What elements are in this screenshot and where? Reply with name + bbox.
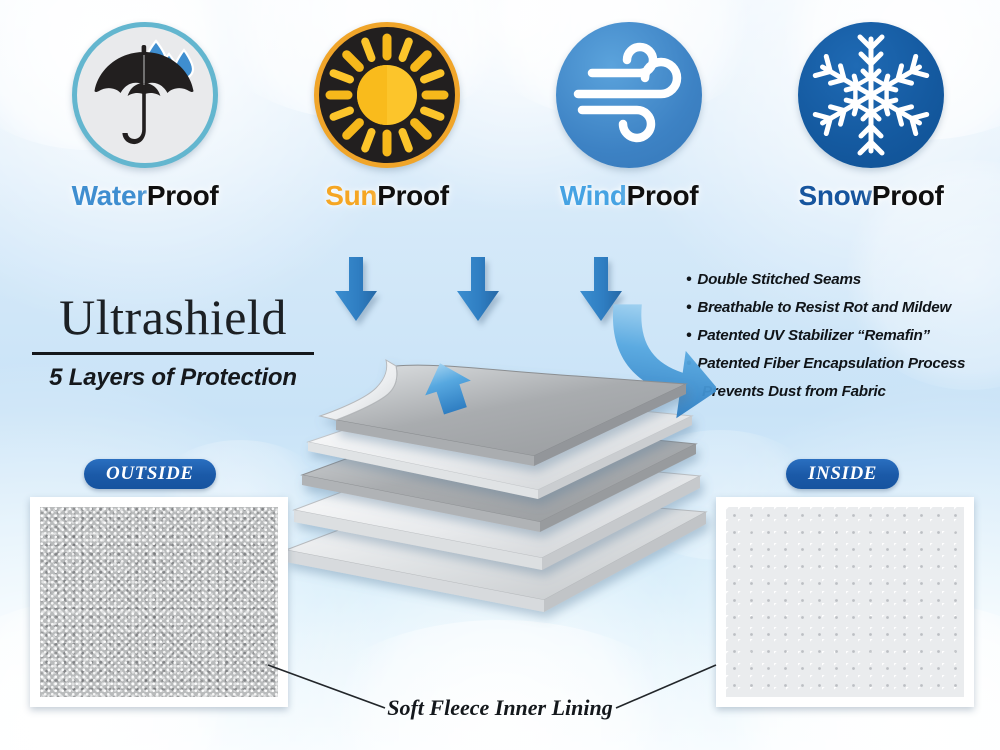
brand-divider (32, 352, 314, 355)
bullet-text: Prevents Dust from Fabric (702, 384, 886, 399)
badge-outside: OUTSIDE (84, 459, 216, 489)
badge-inside: INSIDE (786, 459, 899, 489)
feature-waterproof[interactable]: WaterProof (20, 0, 270, 212)
feature-sunproof[interactable]: SunProof (262, 0, 512, 212)
bullet-item: • Patented Fiber Encapsulation Process (686, 356, 996, 372)
feature-label-highlight: Wind (560, 180, 627, 211)
bullet-item: • Double Stitched Seams (686, 272, 996, 288)
feature-label-suffix: Proof (627, 180, 699, 211)
brand-subtitle: 5 Layers of Protection (28, 364, 318, 392)
sun-icon (314, 22, 460, 168)
feature-snowproof[interactable]: SnowProof (746, 0, 996, 212)
bullet-item: • Breathable to Resist Rot and Mildew (686, 300, 996, 316)
feature-windproof[interactable]: WindProof (504, 0, 754, 212)
feature-label-windproof: WindProof (504, 180, 754, 212)
feature-bullet-list: • Double Stitched Seams • Breathable to … (686, 272, 996, 411)
bullet-dot-icon: • (686, 272, 691, 288)
feature-label-highlight: Water (72, 180, 147, 211)
feature-label-suffix: Proof (147, 180, 219, 211)
feature-label-suffix: Proof (377, 180, 449, 211)
bullet-text: Patented UV Stabilizer “Remafin” (697, 328, 930, 343)
feature-label-highlight: Sun (325, 180, 377, 211)
feature-label-snowproof: SnowProof (746, 180, 996, 212)
brand-name: Ultrashield (28, 292, 318, 342)
feature-icon-row: WaterProof (0, 0, 1000, 235)
bullet-text: Breathable to Resist Rot and Mildew (697, 300, 951, 315)
feature-label-highlight: Snow (798, 180, 871, 211)
ultrashield-fabric-infographic: WaterProof (0, 0, 1000, 750)
fleece-lining-caption: Soft Fleece Inner Lining (0, 695, 1000, 721)
bullet-item: • Patented UV Stabilizer “Remafin” (686, 328, 996, 344)
bullet-text: Patented Fiber Encapsulation Process (697, 356, 965, 371)
snowflake-icon (798, 22, 944, 168)
feature-label-suffix: Proof (872, 180, 944, 211)
feature-label-sunproof: SunProof (262, 180, 512, 212)
bullet-item: Prevents Dust from Fabric (686, 384, 996, 399)
bullet-text: Double Stitched Seams (697, 272, 861, 287)
feature-label-waterproof: WaterProof (20, 180, 270, 212)
brand-block: Ultrashield 5 Layers of Protection (28, 292, 318, 392)
wind-icon (556, 22, 702, 168)
umbrella-raindrops-icon (72, 22, 218, 168)
